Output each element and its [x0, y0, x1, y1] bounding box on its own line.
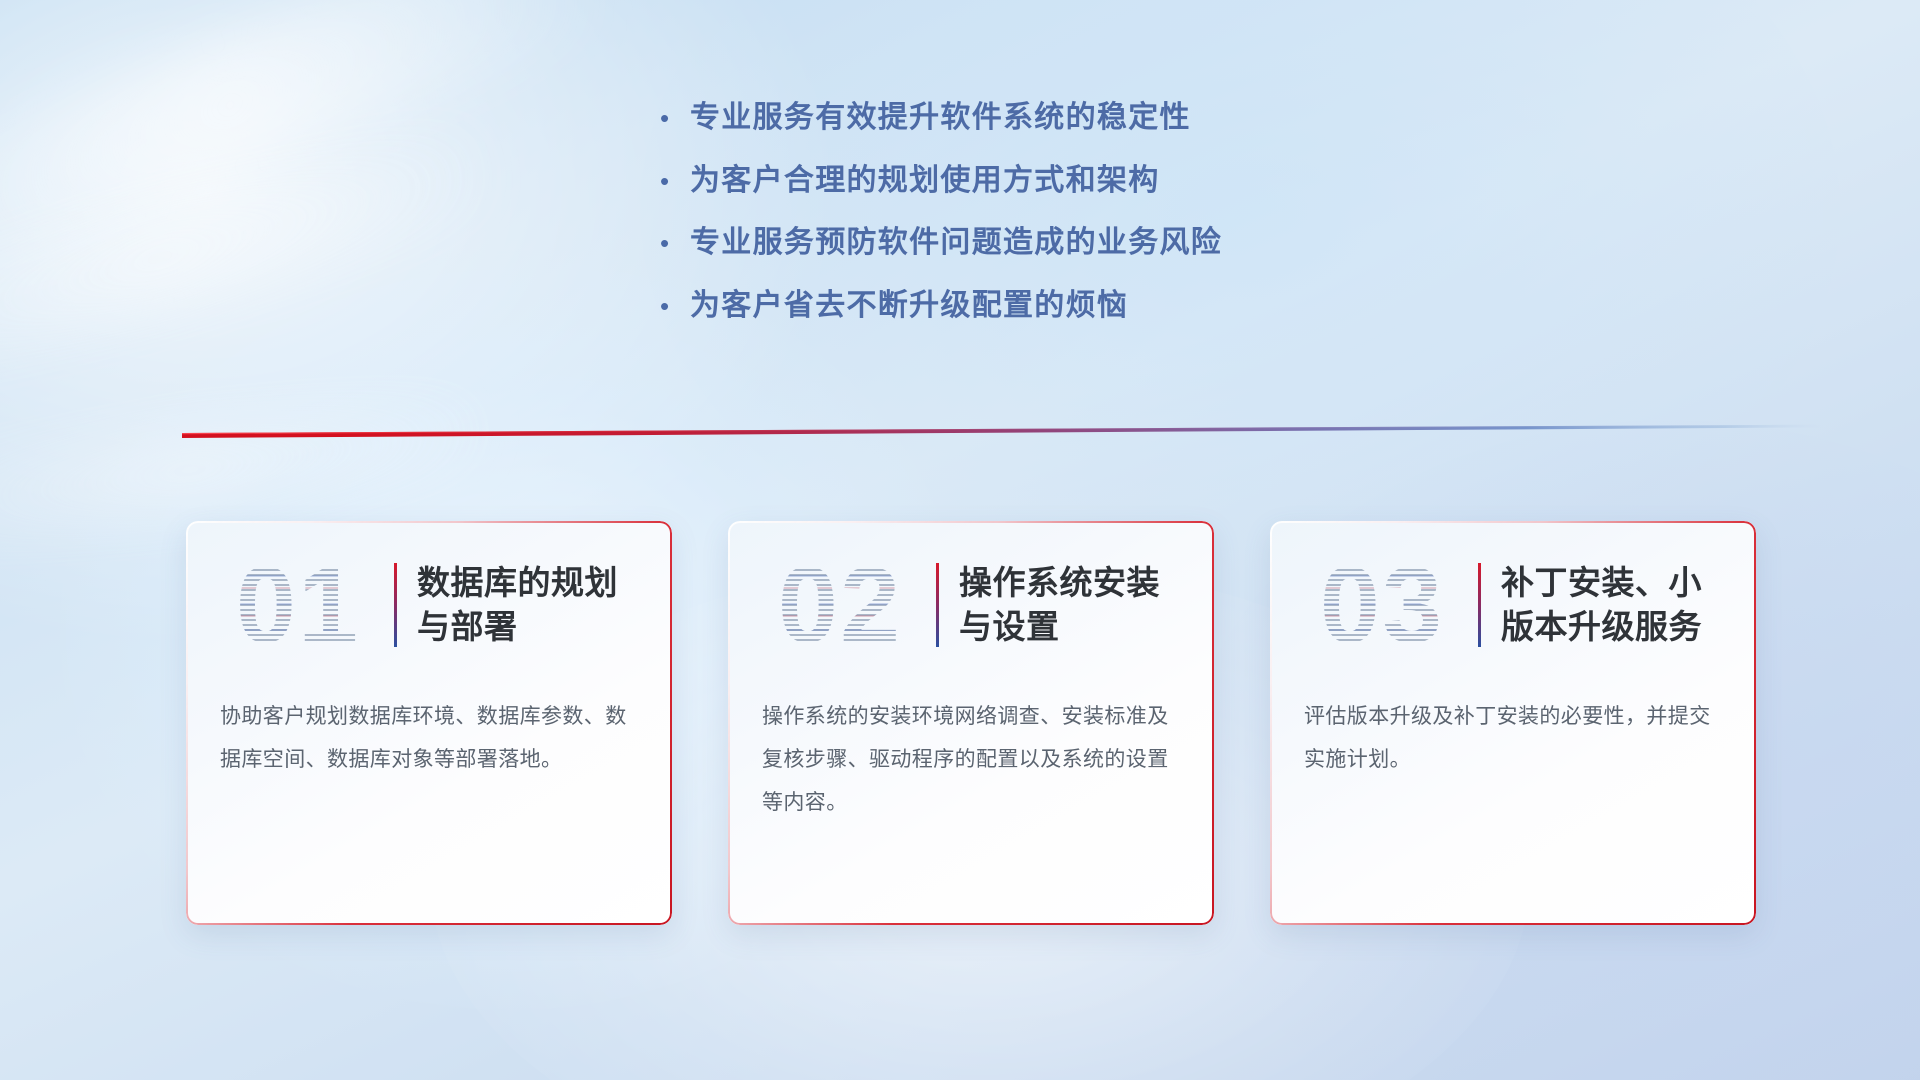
card-title-divider [1478, 563, 1481, 647]
card-number-glyph-blue: 02 [760, 549, 920, 661]
slide-canvas: • 专业服务有效提升软件系统的稳定性 • 为客户合理的规划使用方式和架构 • 专… [0, 0, 1920, 1080]
card-title-divider [394, 563, 397, 647]
tapered-rule-icon [182, 415, 1822, 441]
list-item: • 为客户合理的规划使用方式和架构 [660, 161, 1560, 202]
service-card[interactable]: 03 03 03 补丁安装、小版本升级服务 评估版本升级及补丁安装的必要性，并提… [1270, 521, 1756, 925]
service-card[interactable]: 01 01 01 数据库的规划与部署 协助客户规划数据库环境、数据库参数、数据库… [186, 521, 672, 925]
bullet-dot-icon: • [660, 293, 690, 319]
card-title: 数据库的规划与部署 [417, 561, 646, 648]
card-description: 评估版本升级及补丁安装的必要性，并提交实施计划。 [1270, 689, 1756, 781]
benefits-bullet-list: • 专业服务有效提升软件系统的稳定性 • 为客户合理的规划使用方式和架构 • 专… [660, 98, 1560, 348]
card-number-decoration: 03 03 03 [1302, 549, 1462, 661]
bullet-dot-icon: • [660, 105, 690, 131]
background-light-ray [0, 115, 510, 399]
bullet-text: 专业服务有效提升软件系统的稳定性 [690, 98, 1191, 139]
card-number-decoration: 01 01 01 [218, 549, 378, 661]
card-description: 协助客户规划数据库环境、数据库参数、数据库空间、数据库对象等部署落地。 [186, 689, 672, 781]
card-number-glyph-blue: 01 [218, 549, 378, 661]
section-divider [182, 415, 1822, 441]
bullet-dot-icon: • [660, 168, 690, 194]
card-description: 操作系统的安装环境网络调查、安装标准及复核步骤、驱动程序的配置以及系统的设置等内… [728, 689, 1214, 824]
card-title: 操作系统安装与设置 [959, 561, 1188, 648]
list-item: • 专业服务有效提升软件系统的稳定性 [660, 98, 1560, 139]
bullet-dot-icon: • [660, 230, 690, 256]
card-title: 补丁安装、小版本升级服务 [1501, 561, 1730, 648]
card-title-divider [936, 563, 939, 647]
card-header: 03 03 03 补丁安装、小版本升级服务 [1270, 521, 1756, 689]
background-light-ray [0, 0, 607, 308]
card-header: 02 02 02 操作系统安装与设置 [728, 521, 1214, 689]
service-card-group: 01 01 01 数据库的规划与部署 协助客户规划数据库环境、数据库参数、数据库… [186, 521, 1756, 925]
card-header: 01 01 01 数据库的规划与部署 [186, 521, 672, 689]
bullet-text: 为客户合理的规划使用方式和架构 [690, 161, 1160, 202]
bullet-text: 专业服务预防软件问题造成的业务风险 [690, 223, 1222, 264]
card-number-decoration: 02 02 02 [760, 549, 920, 661]
card-number-glyph-blue: 03 [1302, 549, 1462, 661]
service-card[interactable]: 02 02 02 操作系统安装与设置 操作系统的安装环境网络调查、安装标准及复核… [728, 521, 1214, 925]
list-item: • 为客户省去不断升级配置的烦恼 [660, 286, 1560, 327]
list-item: • 专业服务预防软件问题造成的业务风险 [660, 223, 1560, 264]
bullet-text: 为客户省去不断升级配置的烦恼 [690, 286, 1128, 327]
